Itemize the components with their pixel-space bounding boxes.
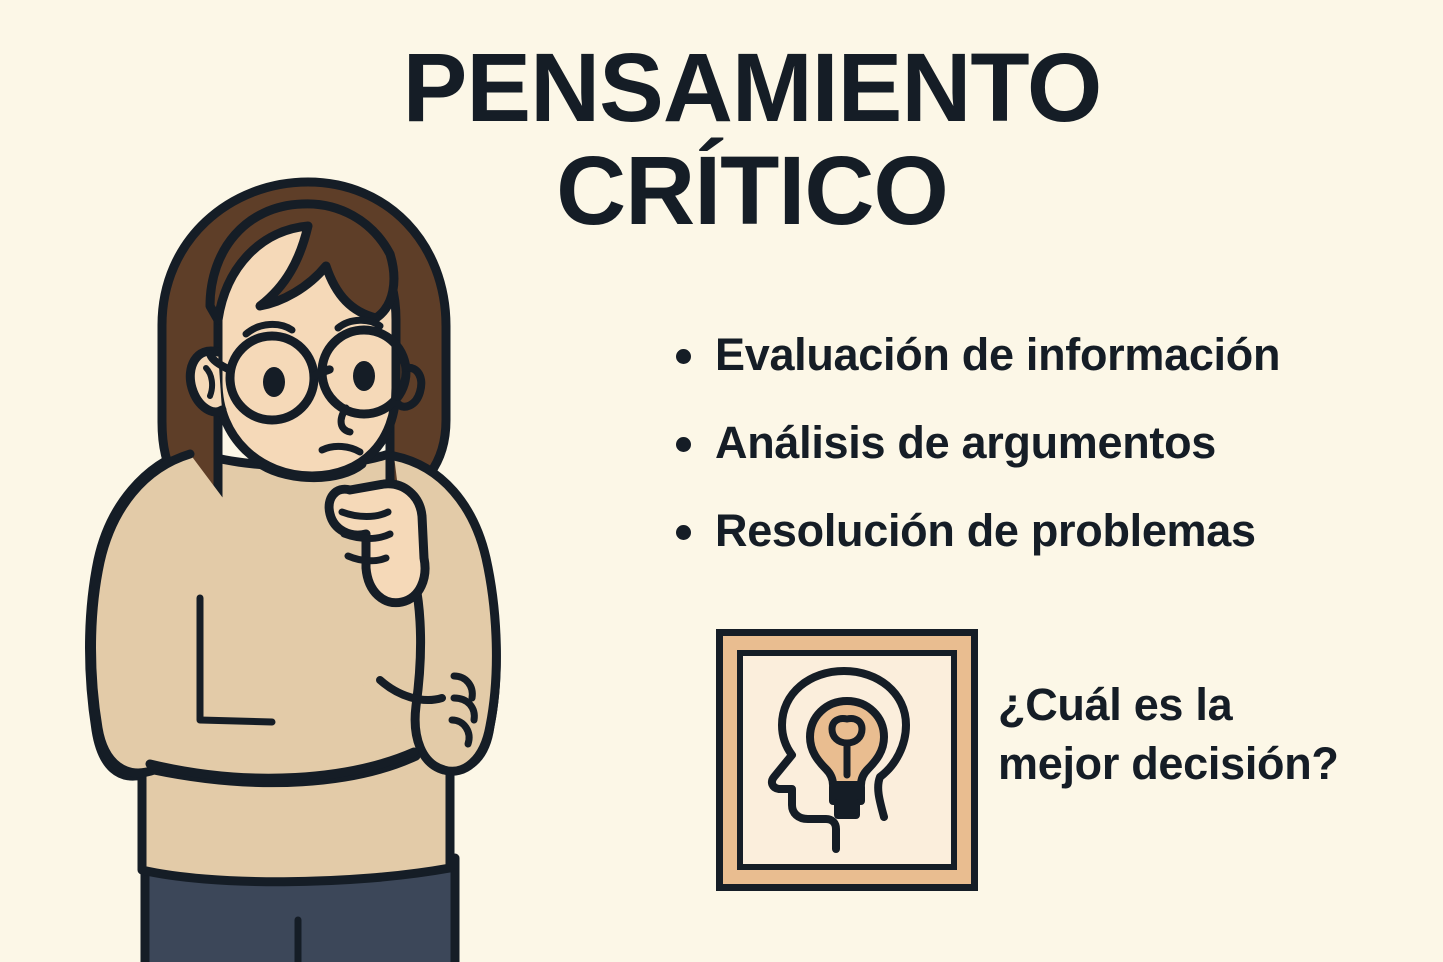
bullet-label: Resolución de problemas — [715, 506, 1256, 556]
list-item: Evaluación de información — [676, 330, 1416, 382]
pupil-left — [263, 367, 285, 397]
icon-frame — [716, 629, 978, 891]
title-line-2: CRÍTICO — [372, 143, 1132, 238]
bullet-label: Análisis de argumentos — [715, 418, 1216, 468]
poster-canvas: PENSAMIENTO CRÍTICO Evaluación de inform… — [0, 0, 1443, 962]
question-line-1: ¿Cuál es la — [998, 676, 1418, 735]
skills-bullet-list: Evaluación de información Análisis de ar… — [676, 330, 1416, 594]
thinking-woman-svg — [50, 120, 570, 962]
bullet-dot-icon — [676, 525, 691, 540]
bullet-dot-icon — [676, 437, 691, 452]
poster-title: PENSAMIENTO CRÍTICO — [372, 40, 1132, 238]
bulb-base-upper — [833, 787, 861, 801]
list-item: Análisis de argumentos — [676, 418, 1416, 470]
bullet-label: Evaluación de información — [715, 330, 1280, 380]
head-lightbulb-icon — [752, 665, 942, 855]
question-line-2: mejor decisión? — [998, 735, 1418, 794]
question-text: ¿Cuál es la mejor decisión? — [998, 676, 1418, 793]
list-item: Resolución de problemas — [676, 506, 1416, 558]
thinking-woman-illustration — [50, 120, 570, 962]
bullet-dot-icon — [676, 349, 691, 364]
title-line-1: PENSAMIENTO — [372, 40, 1132, 135]
icon-frame-inner — [737, 650, 957, 870]
bulb-base-lower — [838, 803, 856, 815]
pupil-right — [353, 361, 375, 391]
